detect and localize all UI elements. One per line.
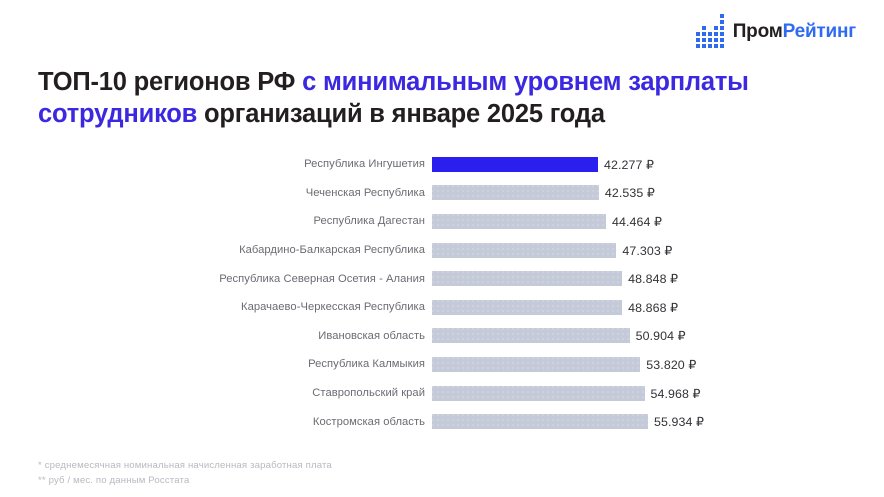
chart-bar: [432, 157, 598, 172]
chart-row-label: Республика Северная Осетия - Алания: [0, 273, 432, 285]
chart-row-bar-area: 54.968 ₽: [432, 386, 884, 401]
logo-dot: [708, 44, 712, 48]
chart-row-label: Костромская область: [0, 416, 432, 428]
logo-dot-column-2: [702, 26, 706, 48]
chart-row-bar-area: 53.820 ₽: [432, 357, 884, 372]
chart-bar: [432, 185, 599, 200]
chart-value-label: 48.868 ₽: [622, 300, 678, 315]
logo-dot-column-5: [720, 14, 724, 48]
bar-dots-logo-icon: [696, 14, 724, 48]
logo-dot: [720, 20, 724, 24]
chart-row: Республика Северная Осетия - Алания48.84…: [0, 264, 884, 293]
chart-value-label: 48.848 ₽: [622, 271, 678, 286]
logo-dot: [702, 26, 706, 30]
chart-row-label: Ставропольский край: [0, 387, 432, 399]
logo-dot: [720, 38, 724, 42]
chart-bar: [432, 214, 606, 229]
chart-bar: [432, 414, 648, 429]
logo-dot: [696, 38, 700, 42]
logo-dot: [720, 32, 724, 36]
logo-dot: [720, 14, 724, 18]
logo-dot: [696, 44, 700, 48]
chart-row-bar-area: 50.904 ₽: [432, 328, 884, 343]
chart-row-bar-area: 47.303 ₽: [432, 243, 884, 258]
brand-name-part2: Рейтинг: [783, 21, 856, 42]
chart-row: Республика Калмыкия53.820 ₽: [0, 350, 884, 379]
chart-row: Республика Дагестан44.464 ₽: [0, 207, 884, 236]
chart-value-label: 55.934 ₽: [648, 414, 704, 429]
footnotes: * среднемесячная номинальная начисленная…: [38, 459, 332, 489]
chart-row: Ивановская область50.904 ₽: [0, 322, 884, 351]
chart-value-label: 44.464 ₽: [606, 214, 662, 229]
chart-row-bar-area: 42.535 ₽: [432, 185, 884, 200]
chart-row-label: Республика Ингушетия: [0, 158, 432, 170]
chart-bar: [432, 271, 622, 286]
title-part-1: ТОП-10 регионов РФ: [38, 68, 302, 96]
chart-value-label: 47.303 ₽: [616, 243, 672, 258]
chart-value-label: 54.968 ₽: [645, 386, 701, 401]
brand-name-part1: Пром: [733, 21, 783, 42]
chart-bar: [432, 243, 616, 258]
logo-dot: [702, 38, 706, 42]
chart-row-label: Карачаево-Черкесская Республика: [0, 301, 432, 313]
logo-dot: [714, 26, 718, 30]
brand-logo: ПромРейтинг: [696, 14, 856, 48]
chart-row: Республика Ингушетия42.277 ₽: [0, 150, 884, 179]
chart-row-bar-area: 55.934 ₽: [432, 414, 884, 429]
chart-row-label: Республика Калмыкия: [0, 358, 432, 370]
logo-dot: [714, 38, 718, 42]
chart-bar: [432, 300, 622, 315]
logo-dot-column-3: [708, 32, 712, 48]
chart-bar: [432, 386, 645, 401]
logo-dot: [720, 44, 724, 48]
chart-bar: [432, 357, 640, 372]
logo-dot: [708, 32, 712, 36]
chart-row-bar-area: 44.464 ₽: [432, 214, 884, 229]
chart-value-label: 42.535 ₽: [599, 185, 655, 200]
chart-row-label: Кабардино-Балкарская Республика: [0, 244, 432, 256]
logo-dot-column-1: [696, 32, 700, 48]
chart-row-label: Республика Дагестан: [0, 215, 432, 227]
logo-dot-column-4: [714, 26, 718, 48]
logo-dot: [714, 44, 718, 48]
page-title: ТОП-10 регионов РФ с минимальным уровнем…: [38, 66, 828, 130]
logo-dot: [708, 38, 712, 42]
title-part-2: организаций в январе 2025 года: [197, 100, 605, 128]
brand-name: ПромРейтинг: [733, 22, 856, 41]
logo-dot: [714, 32, 718, 36]
chart-row-bar-area: 48.868 ₽: [432, 300, 884, 315]
chart-row-bar-area: 48.848 ₽: [432, 271, 884, 286]
chart-value-label: 53.820 ₽: [640, 357, 696, 372]
chart-row-label: Ивановская область: [0, 330, 432, 342]
chart-row: Кабардино-Балкарская Республика47.303 ₽: [0, 236, 884, 265]
bar-chart: Республика Ингушетия42.277 ₽Чеченская Ре…: [0, 150, 884, 436]
chart-row-bar-area: 42.277 ₽: [432, 157, 884, 172]
footnote-line-2: ** руб / мес. по данным Росстата: [38, 474, 332, 489]
chart-value-label: 50.904 ₽: [630, 328, 686, 343]
chart-row: Костромская область55.934 ₽: [0, 407, 884, 436]
footnote-line-1: * среднемесячная номинальная начисленная…: [38, 459, 332, 474]
logo-dot: [702, 44, 706, 48]
logo-dot: [720, 26, 724, 30]
logo-dot: [696, 32, 700, 36]
chart-row: Ставропольский край54.968 ₽: [0, 379, 884, 408]
chart-row: Чеченская Республика42.535 ₽: [0, 179, 884, 208]
logo-dot: [702, 32, 706, 36]
chart-row: Карачаево-Черкесская Республика48.868 ₽: [0, 293, 884, 322]
chart-bar: [432, 328, 630, 343]
chart-value-label: 42.277 ₽: [598, 157, 654, 172]
chart-row-label: Чеченская Республика: [0, 187, 432, 199]
